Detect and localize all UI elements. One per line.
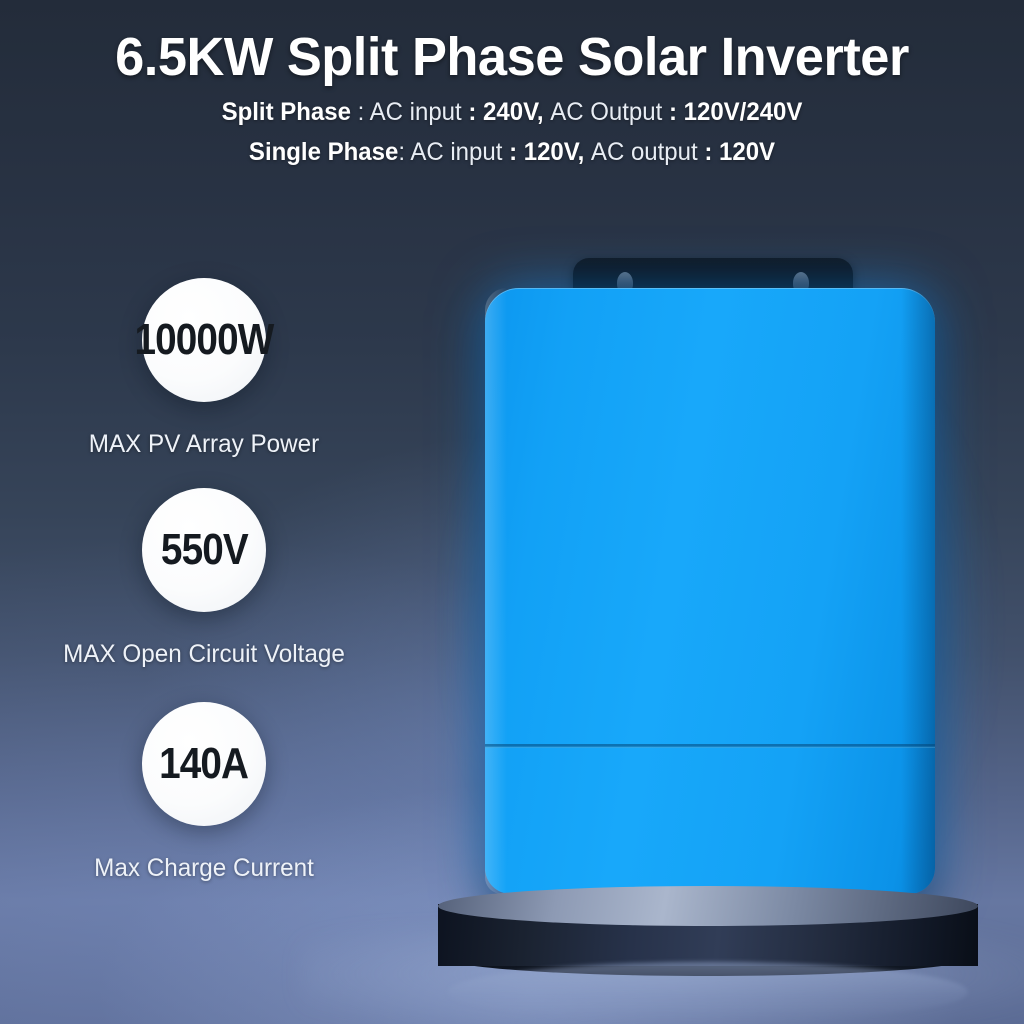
product-marketing-banner: 6.5KW Split Phase Solar Inverter Split P… [0, 0, 1024, 1024]
product-image: SUNGOLDPOWER 0.0 w 0.0 w [0, 0, 1024, 1024]
case-seam-line [485, 744, 935, 748]
case-shadow-right [901, 288, 935, 894]
case-highlight-left [485, 288, 507, 894]
inverter-case: SUNGOLDPOWER 0.0 w 0.0 w [485, 288, 935, 894]
podium-reflection [448, 962, 968, 1022]
podium-top-surface [438, 886, 978, 926]
